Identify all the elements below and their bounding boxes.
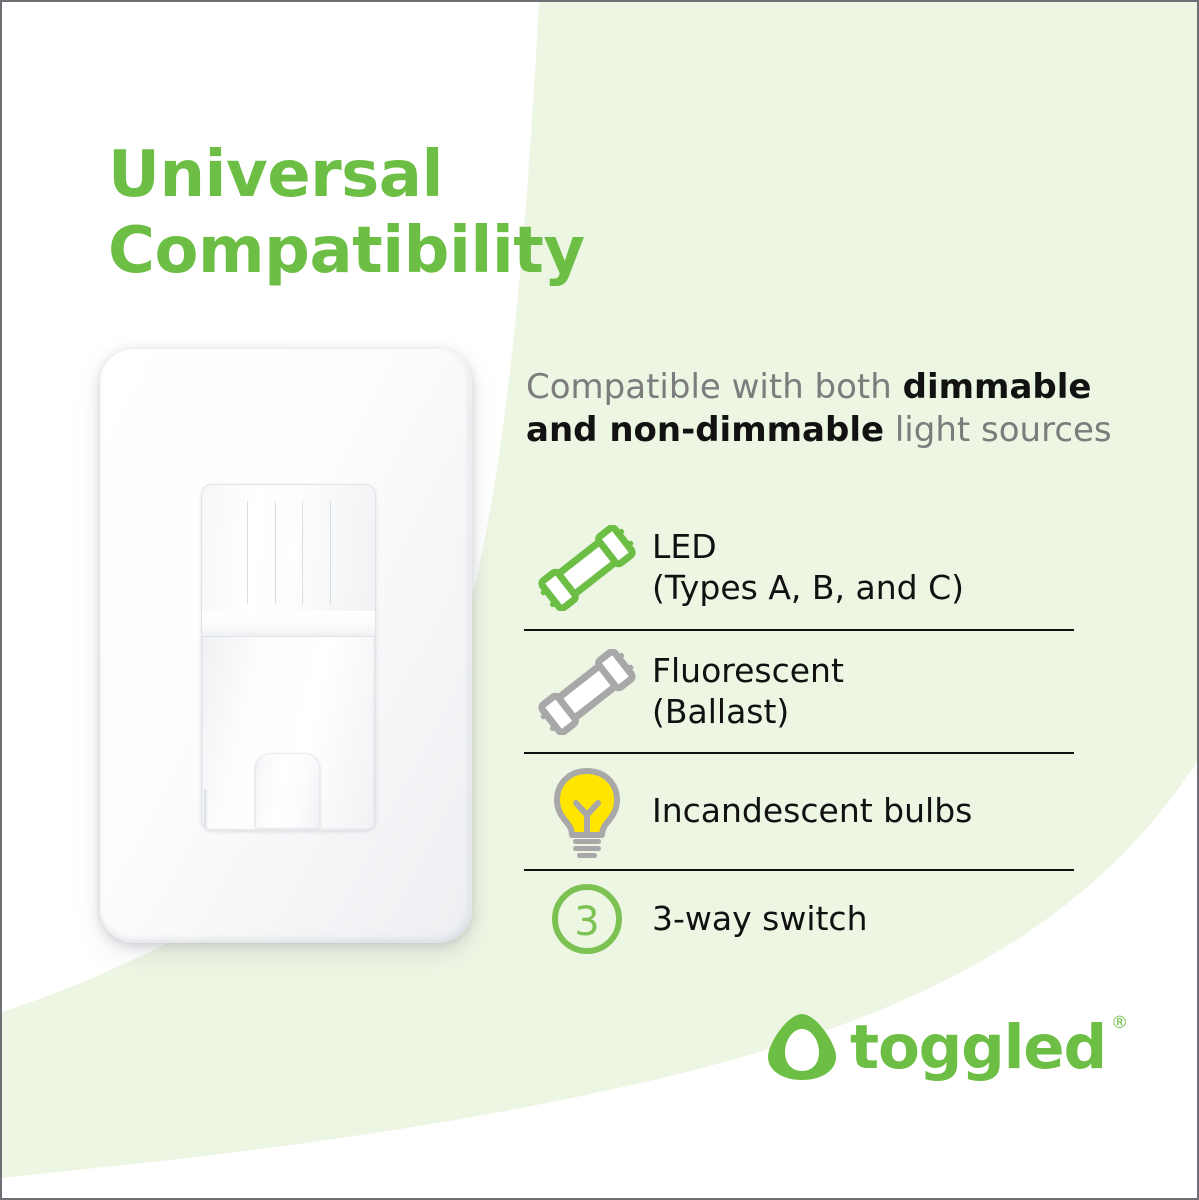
compatibility-text-lead: Compatible with both [526, 367, 903, 407]
fluorescent-tube-icon [524, 649, 650, 735]
paddle-thumb-grip [256, 754, 319, 828]
led-tube-icon [524, 525, 650, 611]
sensor-band [202, 611, 375, 637]
incandescent-bulb-icon [524, 765, 650, 859]
list-item-label: LED (Types A, B, and C) [650, 527, 1074, 608]
list-item-3way-switch: 3 3-way switch [524, 869, 1074, 967]
toggled-logo[interactable]: toggled® [766, 1012, 1106, 1082]
three-way-switch-icon: 3 [524, 881, 650, 957]
page-title: Universal Compatibility [108, 138, 585, 289]
three-way-switch-number: 3 [574, 899, 599, 945]
compatibility-statement: Compatible with both dimmable and non-di… [526, 366, 1142, 452]
compatibility-list: LED (Types A, B, and C) Fluorescent (B [524, 506, 1074, 967]
sensor-lens [202, 485, 375, 612]
list-item-label: 3-way switch [650, 899, 1074, 939]
product-image [100, 349, 472, 943]
list-item-led: LED (Types A, B, and C) [524, 506, 1074, 629]
registered-trademark-symbol: ® [1111, 1015, 1127, 1032]
compatibility-text-tail: light sources [884, 410, 1112, 450]
toggled-wordmark: toggled® [850, 1017, 1106, 1078]
list-item-incandescent: Incandescent bulbs [524, 752, 1074, 869]
toggled-egg-mark-icon [766, 1012, 838, 1082]
universal-compatibility-poster: Universal Compatibility Compatible with … [0, 0, 1199, 1200]
sensor-switch-body [201, 484, 376, 831]
list-item-label: Incandescent bulbs [650, 791, 1074, 831]
toggled-wordmark-text: toggled [850, 1012, 1106, 1083]
sensor-paddle-button[interactable] [204, 637, 373, 828]
list-item-fluorescent: Fluorescent (Ballast) [524, 629, 1074, 752]
list-item-label: Fluorescent (Ballast) [650, 651, 1074, 732]
